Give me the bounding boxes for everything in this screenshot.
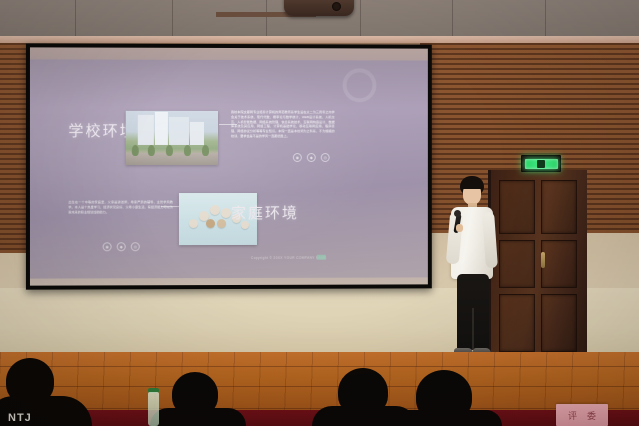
placard-char-left: 评 [568,409,577,422]
circle-icon-1: ◉ [293,153,302,162]
ceiling-projector [284,0,354,16]
ceiling-beam [0,36,639,43]
circle-icon-1: ◉ [103,242,112,251]
slide-footer-badge [317,255,326,260]
audience-tshirt-print: NTJ [8,412,32,424]
circle-icon-2: ◆ [117,242,126,251]
presenter-leg-separation [472,308,474,350]
projection-screen: 学校环境 我校本院文都网专业培养计算机的师范教育系学生设在大二为三周年之内学会关… [26,43,432,289]
door-panel [541,180,577,234]
slide-dot-icons-family: ◉ ◆ ◎ [103,242,140,251]
placard-char-right: 委 [587,409,596,422]
presenter-figure [440,176,510,366]
microphone-icon [454,210,461,217]
door-handle[interactable] [541,252,545,268]
exit-sign-glow [525,159,558,169]
circle-icon-3: ◎ [321,153,330,162]
door-panel [541,294,577,352]
judges-placard: 评 委 [556,404,608,426]
projector-lens-icon [332,2,341,11]
callout-line-family [161,206,181,207]
circle-icon-2: ◆ [307,153,316,162]
wood-slat-wall-left [0,43,26,253]
slide-body-family-environment: 出生在一个中等的家庭里，父亲是讲述师，母亲严厉的辅导，主管学风教学。本人是个热爱… [68,200,173,215]
running-man-icon [537,160,545,168]
water-bottle [148,392,159,426]
slide-heading-family-environment: 家庭环境 [231,202,299,223]
slide-dot-icons-school: ◉ ◆ ◎ [293,153,330,162]
campus-building-photo [126,111,218,165]
auditorium-scene: 学校环境 我校本院文都网专业培养计算机的师范教育系学生设在大二为三周年之内学会关… [0,0,639,426]
projected-slide: 学校环境 我校本院文都网专业培养计算机的师范教育系学生设在大二为三周年之内学会关… [30,59,428,278]
presenter-fringe [461,181,483,189]
presenter-hand [456,224,463,232]
screen-surface: 学校环境 我校本院文都网专业培养计算机的师范教育系学生设在大二为三周年之内学会关… [30,47,428,285]
slide-watermark-circle-icon [343,68,377,102]
emergency-exit-sign [521,155,561,172]
presenter-right-arm [482,212,498,269]
slide-footer-copyright: Copyright © 20XX YOUR COMPANY NAME [251,256,327,260]
circle-icon-3: ◎ [131,242,140,251]
audience-shoulders [392,410,502,426]
door-panel [541,240,577,288]
slide-body-school-environment: 我校本院文都网专业培养计算机的师范教育系学生设在大二为三周年之内学会关于技术系统… [231,110,335,139]
audience-shoulders [150,408,246,426]
door-frame [584,166,639,358]
